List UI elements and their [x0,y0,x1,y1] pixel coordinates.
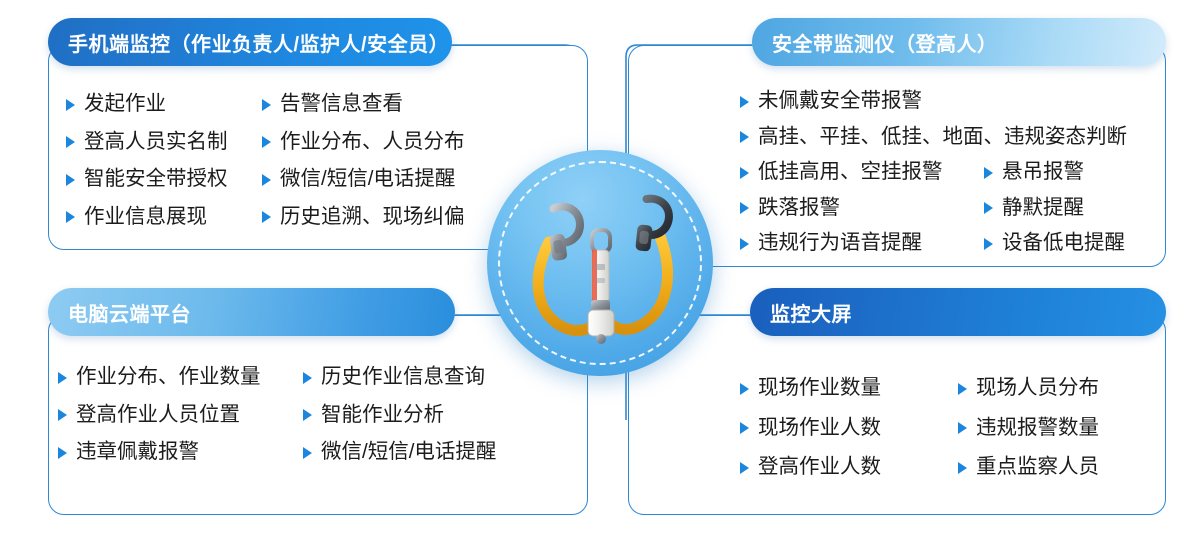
list-item[interactable]: 登高作业人数 [740,457,958,478]
list-item[interactable]: 高挂、平挂、低挂、地面、违规姿态判断 [740,127,1127,148]
list-item[interactable]: 违规行为语音提醒 [740,233,984,254]
triangle-right-icon [958,462,967,474]
triangle-right-icon [303,372,312,384]
list-item[interactable]: 设备低电提醒 [984,233,1127,254]
triangle-right-icon [303,409,312,421]
list-item[interactable]: 悬吊报警 [984,162,1127,183]
triangle-right-icon [262,99,271,111]
triangle-right-icon [984,167,993,179]
list-item[interactable]: 作业分布、作业数量 [58,367,303,388]
list-item[interactable]: 登高人员实名制 [66,132,262,153]
list-item[interactable]: 现场作业人数 [740,418,958,439]
triangle-right-icon [740,422,749,434]
list-item[interactable]: 现场人员分布 [958,378,1099,399]
panel-device-items: 未佩戴安全带报警 高挂、平挂、低挂、地面、违规姿态判断 低挂高用、空挂报警 悬吊… [740,91,1127,254]
diagram-canvas: 手机端监控（作业负责人/监护人/安全员） 发起作业 告警信息查看 登高人员实名制… [0,0,1200,550]
list-item[interactable]: 智能安全带授权 [66,169,262,190]
panel-bigscreen-header[interactable]: 监控大屏 [750,288,1166,336]
triangle-right-icon [66,99,75,111]
triangle-right-icon [740,167,749,179]
list-item[interactable]: 历史作业信息查询 [303,367,496,388]
list-item[interactable]: 登高作业人员位置 [58,405,303,426]
triangle-right-icon [740,238,749,250]
triangle-right-icon [740,131,749,143]
triangle-right-icon [262,211,271,223]
list-item[interactable]: 历史追溯、现场纠偏 [262,207,465,228]
list-item[interactable]: 微信/短信/电话提醒 [262,169,465,190]
list-item[interactable]: 违规报警数量 [958,418,1099,439]
list-item[interactable]: 未佩戴安全带报警 [740,91,1127,112]
triangle-right-icon [958,383,967,395]
center-hub [487,150,713,376]
list-item[interactable]: 告警信息查看 [262,94,465,115]
triangle-right-icon [958,422,967,434]
triangle-right-icon [984,238,993,250]
list-item[interactable]: 静默提醒 [984,198,1127,219]
list-item[interactable]: 违章佩戴报警 [58,442,303,463]
triangle-right-icon [66,174,75,186]
triangle-right-icon [58,447,67,459]
triangle-right-icon [66,211,75,223]
triangle-right-icon [58,409,67,421]
list-item[interactable]: 作业分布、人员分布 [262,132,465,153]
panel-mobile-title: 手机端监控（作业负责人/监护人/安全员） [68,28,449,57]
panel-mobile-header[interactable]: 手机端监控（作业负责人/监护人/安全员） [48,18,452,66]
panel-cloud-items: 作业分布、作业数量 历史作业信息查询 登高作业人员位置 智能作业分析 违章佩戴报… [58,367,496,463]
list-item[interactable]: 发起作业 [66,94,262,115]
triangle-right-icon [740,202,749,214]
triangle-right-icon [303,447,312,459]
list-item[interactable]: 作业信息展现 [66,207,262,228]
panel-device-header[interactable]: 安全带监测仪（登高人） [752,18,1166,66]
triangle-right-icon [740,96,749,108]
panel-cloud-title: 电脑云端平台 [68,298,191,327]
triangle-right-icon [262,136,271,148]
safety-harness-icon [487,150,713,376]
panel-cloud-header[interactable]: 电脑云端平台 [48,288,455,336]
triangle-right-icon [58,372,67,384]
panel-bigscreen-items: 现场作业数量 现场人员分布 现场作业人数 违规报警数量 登高作业人数 重点监察人… [740,378,1099,478]
list-item[interactable]: 微信/短信/电话提醒 [303,442,496,463]
list-item[interactable]: 低挂高用、空挂报警 [740,162,984,183]
triangle-right-icon [740,383,749,395]
panel-bigscreen-title: 监控大屏 [770,298,852,327]
list-item[interactable]: 重点监察人员 [958,457,1099,478]
panel-device-title: 安全带监测仪（登高人） [772,28,998,57]
triangle-right-icon [262,174,271,186]
list-item[interactable]: 跌落报警 [740,198,984,219]
list-item[interactable]: 现场作业数量 [740,378,958,399]
triangle-right-icon [66,136,75,148]
triangle-right-icon [984,202,993,214]
triangle-right-icon [740,462,749,474]
panel-mobile-items: 发起作业 告警信息查看 登高人员实名制 作业分布、人员分布 智能安全带授权 微信… [66,94,465,227]
list-item[interactable]: 智能作业分析 [303,405,496,426]
